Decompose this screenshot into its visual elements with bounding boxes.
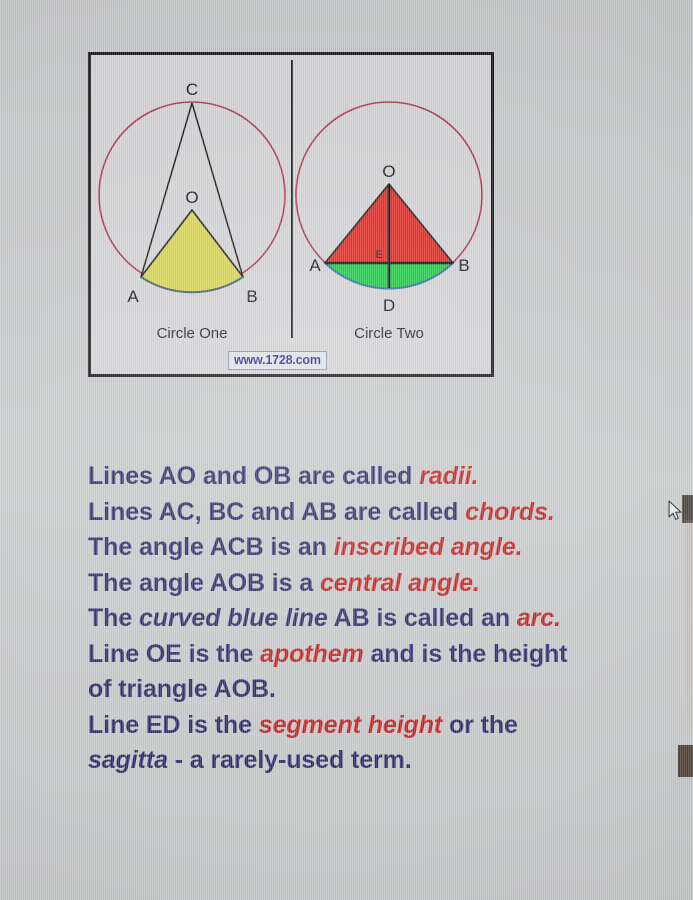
term-red: central angle. — [320, 569, 480, 597]
text-run: or the — [442, 711, 518, 739]
circle-two-panel: O E A B D Circle Two — [296, 102, 482, 342]
watermark-badge: www.1728.com — [228, 351, 327, 370]
definitions-text: Lines AO and OB are called radii.Lines A… — [88, 459, 678, 779]
text-run: - a rarely-used term. — [168, 746, 412, 774]
text-run: Lines AC, BC and AB are called — [88, 498, 465, 526]
circle-two-label-b: B — [458, 256, 469, 275]
text-run: AB is called an — [328, 604, 517, 632]
definitions-line: Line OE is the apothem and is the height — [88, 637, 678, 673]
definitions-line: The curved blue line AB is called an arc… — [88, 601, 678, 637]
geometry-figure: C O A B Circle One — [88, 52, 494, 377]
term-red: segment height — [259, 711, 442, 739]
definitions-line: The angle ACB is an inscribed angle. — [88, 530, 678, 566]
text-run: of triangle AOB. — [88, 675, 276, 703]
circle-one-panel: C O A B Circle One — [99, 80, 285, 342]
text-run: Line ED is the — [88, 711, 259, 739]
definitions-line: sagitta - a rarely-used term. — [88, 743, 678, 779]
circle-one-caption: Circle One — [157, 325, 228, 342]
circle-one-label-b: B — [246, 287, 257, 306]
text-run: The — [88, 604, 139, 632]
text-run: The angle AOB is a — [88, 569, 320, 597]
term-red: chords. — [465, 498, 555, 526]
term-red: arc. — [517, 604, 561, 632]
term-blue-i: sagitta — [88, 746, 168, 774]
term-red: radii. — [419, 462, 478, 490]
definitions-line: The angle AOB is a central angle. — [88, 566, 678, 602]
geometry-figure-svg: C O A B Circle One — [91, 55, 491, 374]
text-run: and is the height — [364, 640, 568, 668]
text-run: Line OE is the — [88, 640, 260, 668]
circle-one-label-c: C — [186, 80, 198, 99]
definitions-line: of triangle AOB. — [88, 672, 678, 708]
text-run: The angle ACB is an — [88, 533, 334, 561]
term-red: inscribed angle. — [334, 533, 523, 561]
circle-two-label-o: O — [382, 162, 395, 181]
circle-one-label-o: O — [185, 188, 198, 207]
mouse-cursor-icon — [668, 500, 684, 522]
definitions-line: Line ED is the segment height or the — [88, 708, 678, 744]
circle-two-label-d: D — [383, 296, 395, 315]
term-blue-i: curved blue line — [139, 604, 328, 632]
definitions-line: Lines AC, BC and AB are called chords. — [88, 495, 678, 531]
bezel-artifact-glow — [685, 520, 693, 735]
term-red: apothem — [260, 640, 363, 668]
text-run: Lines AO and OB are called — [88, 462, 419, 490]
circle-two-label-a: A — [309, 256, 321, 275]
circle-two-label-e: E — [375, 249, 382, 261]
definitions-line: Lines AO and OB are called radii. — [88, 459, 678, 495]
screenshot-root: C O A B Circle One — [0, 0, 693, 900]
circle-one-label-a: A — [127, 287, 139, 306]
circle-two-caption: Circle Two — [354, 325, 424, 342]
bezel-artifact-lower — [678, 745, 693, 777]
